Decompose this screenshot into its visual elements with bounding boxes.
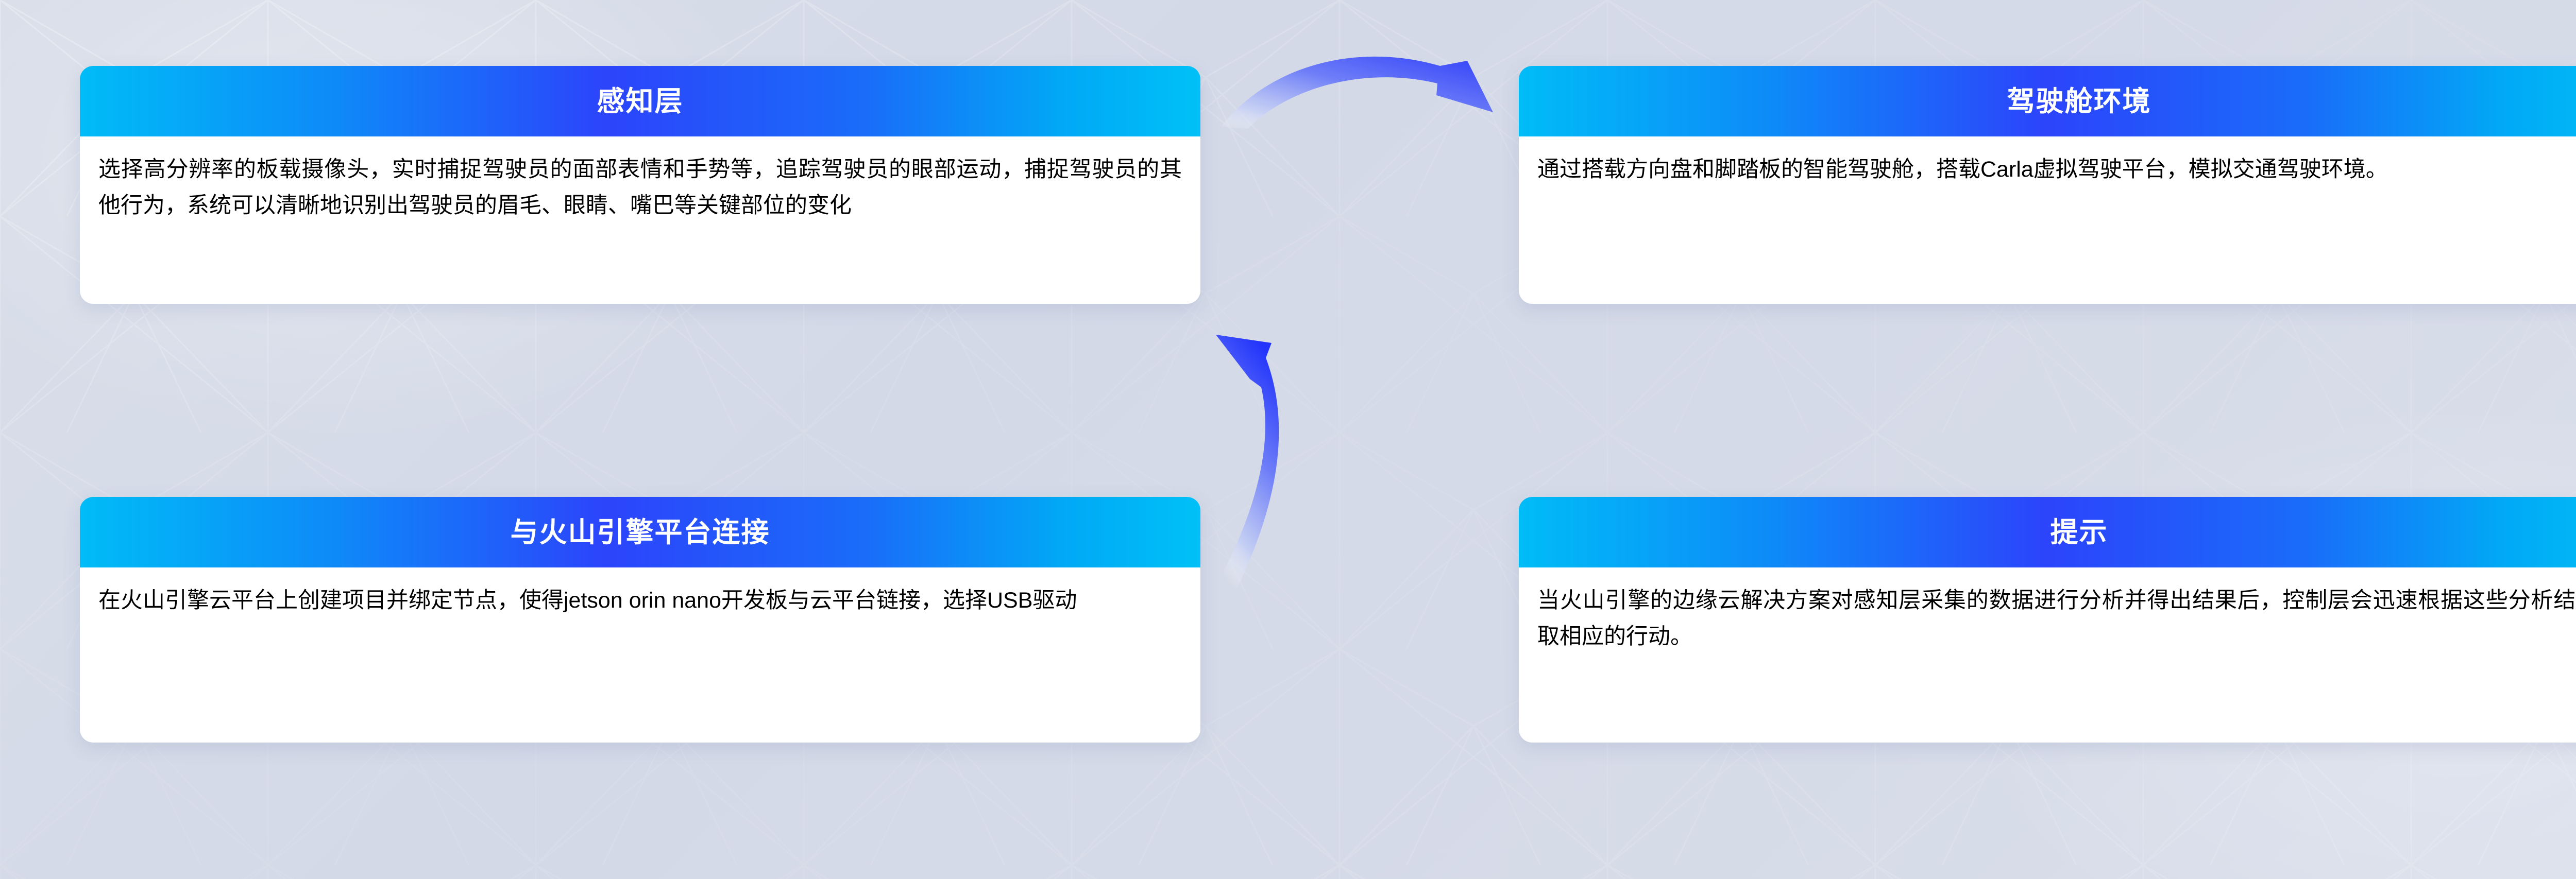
card-prompt-title: 提示	[2050, 519, 2108, 546]
card-cockpit-title: 驾驶舱环境	[2007, 88, 2151, 115]
card-prompt-header: 提示	[1519, 497, 2576, 567]
arrow-up-icon	[1185, 278, 1422, 592]
card-cockpit[interactable]: 驾驶舱环境 通过搭载方向盘和脚踏板的智能驾驶舱，搭载Carla虚拟驾驶平台，模拟…	[1519, 66, 2576, 304]
arrow-right-icon	[1170, 5, 1551, 160]
card-perception-title: 感知层	[597, 88, 684, 115]
card-perception-text: 选择高分辨率的板载摄像头，实时捕捉驾驶员的面部表情和手势等，追踪驾驶员的眼部运动…	[98, 152, 1182, 223]
card-prompt-text: 当火山引擎的边缘云解决方案对感知层采集的数据进行分析并得出结果后，控制层会迅速根…	[1537, 583, 2576, 654]
card-perception-header: 感知层	[80, 66, 1200, 136]
card-perception-body: 选择高分辨率的板载摄像头，实时捕捉驾驶员的面部表情和手势等，追踪驾驶员的眼部运动…	[80, 136, 1200, 223]
card-prompt-body: 当火山引擎的边缘云解决方案对感知层采集的数据进行分析并得出结果后，控制层会迅速根…	[1519, 567, 2576, 654]
card-cockpit-body: 通过搭载方向盘和脚踏板的智能驾驶舱，搭载Carla虚拟驾驶平台，模拟交通驾驶环境…	[1519, 136, 2576, 188]
card-cockpit-header: 驾驶舱环境	[1519, 66, 2576, 136]
flow-diagram-canvas: 感知层 选择高分辨率的板载摄像头，实时捕捉驾驶员的面部表情和手势等，追踪驾驶员的…	[0, 0, 2576, 879]
card-cockpit-text: 通过搭载方向盘和脚踏板的智能驾驶舱，搭载Carla虚拟驾驶平台，模拟交通驾驶环境…	[1537, 152, 2576, 188]
card-platform-connection-title: 与火山引擎平台连接	[511, 519, 770, 546]
card-platform-connection-text: 在火山引擎云平台上创建项目并绑定节点，使得jetson orin nano开发板…	[98, 583, 1182, 619]
card-perception[interactable]: 感知层 选择高分辨率的板载摄像头，实时捕捉驾驶员的面部表情和手势等，追踪驾驶员的…	[80, 66, 1200, 304]
card-prompt[interactable]: 提示 当火山引擎的边缘云解决方案对感知层采集的数据进行分析并得出结果后，控制层会…	[1519, 497, 2576, 743]
card-platform-connection-header: 与火山引擎平台连接	[80, 497, 1200, 567]
card-platform-connection-body: 在火山引擎云平台上创建项目并绑定节点，使得jetson orin nano开发板…	[80, 567, 1200, 619]
card-platform-connection[interactable]: 与火山引擎平台连接 在火山引擎云平台上创建项目并绑定节点，使得jetson or…	[80, 497, 1200, 743]
